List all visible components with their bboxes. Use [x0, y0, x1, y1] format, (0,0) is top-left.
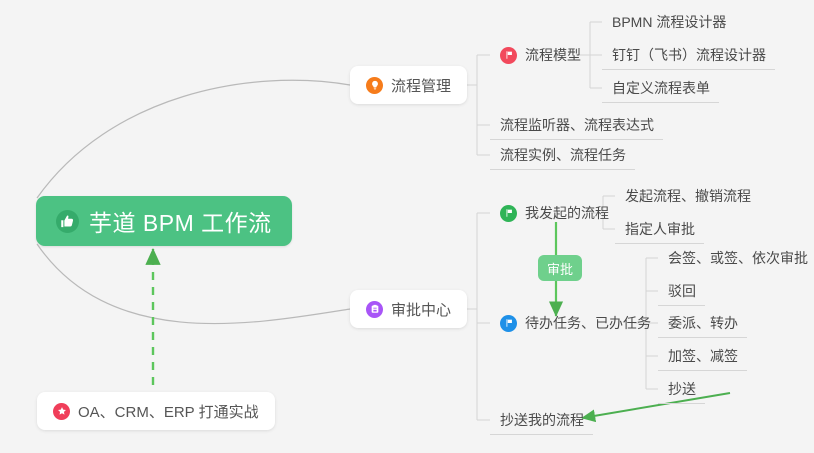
lightbulb-icon: [366, 77, 383, 94]
node-delegate-transfer[interactable]: 委派、转办: [658, 308, 747, 338]
approval-badge-label: 审批: [547, 259, 573, 278]
node-todo-done-tasks[interactable]: 待办任务、已办任务: [490, 308, 660, 338]
mindmap-canvas: 芋道 BPM 工作流 流程管理 流程模型 流程监听器、流程表达式 流程实例、流程…: [0, 0, 814, 453]
branch-label: 审批中心: [391, 299, 451, 320]
node-add-remove-sign[interactable]: 加签、减签: [658, 341, 747, 371]
node-label: 加签、减签: [668, 346, 738, 366]
node-label: 流程模型: [525, 45, 581, 65]
node-label: 驳回: [668, 281, 696, 301]
node-process-listener-expression[interactable]: 流程监听器、流程表达式: [490, 110, 663, 140]
node-assignee-approval[interactable]: 指定人审批: [615, 214, 704, 244]
node-label: 抄送: [668, 379, 696, 399]
node-label: 发起流程、撤销流程: [625, 186, 751, 206]
star-icon: [53, 403, 70, 420]
node-process-model[interactable]: 流程模型: [490, 40, 590, 70]
node-process-instance-task[interactable]: 流程实例、流程任务: [490, 140, 635, 170]
node-label: 待办任务、已办任务: [525, 313, 651, 333]
branch-process-management[interactable]: 流程管理: [350, 66, 467, 104]
flag-icon: [500, 205, 517, 222]
node-label: 会签、或签、依次审批: [668, 248, 808, 268]
node-bpmn-designer[interactable]: BPMN 流程设计器: [602, 7, 735, 37]
integration-note[interactable]: OA、CRM、ERP 打通实战: [37, 392, 275, 430]
approval-badge[interactable]: 审批: [538, 255, 582, 281]
integration-note-label: OA、CRM、ERP 打通实战: [78, 401, 259, 422]
node-start-cancel-process[interactable]: 发起流程、撤销流程: [615, 181, 760, 211]
node-label: BPMN 流程设计器: [612, 12, 726, 32]
edge-root-to-process-management: [37, 80, 350, 198]
node-carbon-copy[interactable]: 抄送: [658, 374, 705, 404]
node-label: 委派、转办: [668, 313, 738, 333]
node-custom-process-form[interactable]: 自定义流程表单: [602, 73, 719, 103]
clipboard-icon: [366, 301, 383, 318]
node-label: 流程监听器、流程表达式: [500, 115, 654, 135]
edge-root-to-approval-center: [37, 244, 350, 324]
node-label: 自定义流程表单: [612, 78, 710, 98]
branch-approval-center[interactable]: 审批中心: [350, 290, 467, 328]
node-label: 指定人审批: [625, 219, 695, 239]
arrow-cc-to-cc-my-process: [582, 393, 730, 418]
node-label: 我发起的流程: [525, 203, 609, 223]
branch-label: 流程管理: [391, 75, 451, 96]
root-label: 芋道 BPM 工作流: [89, 204, 272, 238]
node-dingtalk-feishu-designer[interactable]: 钉钉（飞书）流程设计器: [602, 40, 775, 70]
flag-icon: [500, 47, 517, 64]
root-node[interactable]: 芋道 BPM 工作流: [36, 196, 292, 246]
node-label: 抄送我的流程: [500, 410, 584, 430]
node-cc-to-me-process[interactable]: 抄送我的流程: [490, 405, 593, 435]
node-label: 钉钉（飞书）流程设计器: [612, 45, 766, 65]
flag-icon: [500, 315, 517, 332]
node-my-initiated-process[interactable]: 我发起的流程: [490, 198, 618, 228]
node-reject[interactable]: 驳回: [658, 276, 705, 306]
thumbs-up-icon: [56, 210, 79, 233]
node-label: 流程实例、流程任务: [500, 145, 626, 165]
node-counter-or-sequential-sign[interactable]: 会签、或签、依次审批: [658, 243, 814, 273]
